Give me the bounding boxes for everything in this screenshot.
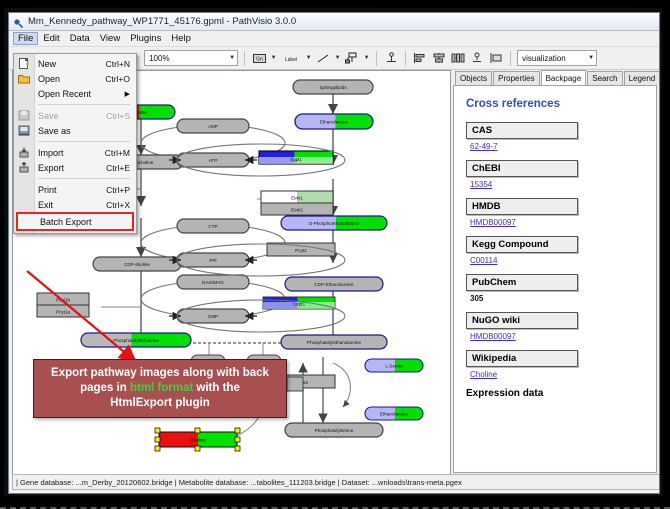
- menu-item-export[interactable]: Export Ctrl+E: [14, 160, 136, 175]
- new-file-icon: [18, 58, 30, 69]
- menu-item-exit-label: Exit: [38, 200, 106, 210]
- node-sphingolipids: Sphingolipids: [319, 85, 347, 90]
- menu-edit[interactable]: Edit: [38, 32, 64, 45]
- menu-separator-3: [38, 178, 130, 179]
- node-o-phosphoethanolamine: O-Phosphoethanolamine: [309, 221, 360, 226]
- menu-separator-1: [38, 104, 130, 105]
- status-bar: | Gene database: ...m_Derby_20120602.bri…: [12, 474, 660, 490]
- xref-source-nugo: NuGO wiki: [466, 312, 578, 329]
- label-dropdown-icon[interactable]: ▼: [305, 55, 312, 61]
- tab-properties[interactable]: Properties: [493, 71, 539, 85]
- line-icon[interactable]: [315, 50, 331, 66]
- callout-line2-a: pages in: [80, 382, 130, 394]
- menu-separator-2: [38, 141, 130, 142]
- line-dropdown-icon[interactable]: ▼: [334, 55, 341, 61]
- xref-source-chebi: ChEBI: [466, 160, 578, 177]
- xref-value-hmdb[interactable]: HMDB00097: [470, 218, 646, 227]
- callout-line2-b: with the: [193, 382, 240, 394]
- annotation-callout: Export pathway images along with back pa…: [33, 359, 287, 418]
- node-l-serine: L-Serine: [385, 364, 403, 369]
- menu-item-batch-export[interactable]: Batch Export: [16, 212, 134, 231]
- node-choline-bottom-group: Choline: [155, 428, 240, 451]
- file-menu-dropdown[interactable]: New Ctrl+N Open Ctrl+O Open Recent ▶ Sav…: [13, 53, 137, 234]
- toolbar-divider-4: [510, 51, 511, 66]
- menu-bar[interactable]: File Edit Data View Plugins Help: [9, 31, 659, 47]
- xref-value-cas[interactable]: 62-49-7: [470, 142, 646, 151]
- node-ppi: PPi: [209, 258, 216, 263]
- status-text: | Gene database: ...m_Derby_20120602.bri…: [16, 478, 462, 487]
- xref-source-wikipedia: Wikipedia: [466, 350, 578, 367]
- backpage-content[interactable]: Cross references CAS 62-49-7 ChEBI 15354…: [453, 85, 657, 473]
- pathvisio-window: Mm_Kennedy_pathway_WP1771_45176.gpml - P…: [8, 12, 660, 494]
- xref-source-hmdb: HMDB: [466, 198, 578, 215]
- callout-line1: Export pathway images along with back: [51, 367, 269, 379]
- node-phosphatidylcholines: Phosphatidylkcholines: [113, 338, 159, 343]
- tab-backpage[interactable]: Backpage: [541, 70, 587, 86]
- menu-item-open-recent[interactable]: Open Recent ▶: [14, 86, 136, 101]
- window-title: Mm_Kennedy_pathway_WP1771_45176.gpml - P…: [28, 16, 296, 27]
- tab-search[interactable]: Search: [587, 71, 622, 85]
- anchor-box: [287, 377, 303, 391]
- interaction-dropdown-icon[interactable]: ▼: [363, 55, 370, 61]
- node-phosphatidylethanolamine: Phosphatidylethanolamine: [307, 340, 361, 345]
- export-icon: [18, 162, 30, 173]
- node-ctp: CTP: [208, 224, 217, 229]
- node-cdp-ethanolamine: CDP-Ethanolamine: [314, 282, 354, 287]
- menu-item-new-label: New: [38, 59, 106, 69]
- chevron-down-icon: ▼: [229, 55, 235, 61]
- node-atp: ATP: [209, 158, 218, 163]
- gene-pcyt1b: Pcyt1b: [56, 298, 70, 303]
- gene-etnk1: Etnk1: [291, 196, 303, 201]
- pathvisio-icon: [13, 16, 24, 27]
- visualization-value: visualization: [522, 54, 566, 63]
- xref-source-kegg: Kegg Compound: [466, 236, 578, 253]
- gene-pcyt2: Pcyt2: [295, 248, 307, 253]
- zoom-value: 100%: [149, 54, 169, 63]
- menu-item-import-label: Import: [38, 148, 105, 158]
- chevron-down-icon-2: ▼: [588, 55, 594, 61]
- menu-item-print[interactable]: Print Ctrl+P: [14, 182, 136, 197]
- menu-item-open-label: Open: [38, 74, 105, 84]
- group-icon[interactable]: [488, 50, 504, 66]
- gene-product-icon[interactable]: Gn: [251, 50, 267, 66]
- svg-text:Label: Label: [285, 56, 297, 62]
- save-as-icon: [18, 125, 30, 136]
- menu-item-print-accel: Ctrl+P: [106, 185, 136, 195]
- xref-value-chebi[interactable]: 15354: [470, 180, 646, 189]
- menu-item-exit[interactable]: Exit Ctrl+X: [14, 197, 136, 212]
- tab-legend[interactable]: Legend: [624, 71, 660, 85]
- gene-product-dropdown-icon[interactable]: ▼: [270, 55, 277, 61]
- menu-item-save-as-label: Save as: [38, 126, 130, 136]
- xref-value-wikipedia[interactable]: Choline: [470, 370, 646, 379]
- menu-file[interactable]: File: [13, 32, 38, 45]
- toolbar-divider-3: [405, 51, 406, 66]
- anchor-icon[interactable]: [383, 50, 399, 66]
- xref-value-pubchem: 305: [470, 294, 646, 303]
- label-icon[interactable]: Label: [280, 50, 302, 66]
- menu-item-batch-export-label: Batch Export: [40, 217, 132, 227]
- xref-source-cas: CAS: [466, 122, 578, 139]
- node-ethanolamine-bottom: Ethanolamine: [380, 412, 409, 417]
- interaction-icon[interactable]: [344, 50, 360, 66]
- menu-item-save-label: Save: [38, 111, 106, 121]
- xref-value-kegg[interactable]: C00114: [470, 256, 646, 265]
- svg-text:Gn: Gn: [256, 56, 263, 62]
- menu-view[interactable]: View: [95, 32, 125, 45]
- cross-references-heading: Cross references: [466, 98, 646, 110]
- save-icon: [18, 110, 30, 121]
- title-bar: Mm_Kennedy_pathway_WP1771_45176.gpml - P…: [9, 13, 659, 31]
- menu-item-export-accel: Ctrl+E: [106, 163, 136, 173]
- node-dagmag: DAG/MAG: [202, 280, 224, 285]
- menu-plugins[interactable]: Plugins: [125, 32, 166, 45]
- menu-item-export-label: Export: [38, 163, 106, 173]
- menu-item-open[interactable]: Open Ctrl+O: [14, 71, 136, 86]
- menu-help[interactable]: Help: [166, 32, 196, 45]
- gene-etnk2: Etnk2: [291, 208, 303, 213]
- callout-text: Export pathway images along with back pa…: [45, 366, 275, 411]
- expression-data-heading: Expression data: [466, 388, 646, 399]
- menu-item-import-accel: Ctrl+M: [105, 148, 136, 158]
- xref-value-nugo[interactable]: HMDB00097: [470, 332, 646, 341]
- menu-item-exit-accel: Ctrl+X: [106, 200, 136, 210]
- menu-item-new-accel: Ctrl+N: [106, 59, 136, 69]
- menu-item-open-accel: Ctrl+O: [105, 74, 136, 84]
- node-phosphatidylserine: Phosphatidylserine: [315, 428, 354, 433]
- menu-item-save: Save Ctrl+S: [14, 108, 136, 123]
- node-cmp: CMP: [208, 314, 218, 319]
- callout-highlight: html format: [130, 382, 193, 394]
- menu-item-import[interactable]: Import Ctrl+M: [14, 145, 136, 160]
- align-center-icon[interactable]: [431, 50, 447, 66]
- visualization-combobox[interactable]: visualization ▼: [517, 50, 597, 66]
- xref-source-pubchem: PubChem: [466, 274, 578, 291]
- tab-objects[interactable]: Objects: [455, 71, 492, 85]
- side-panel: Objects Properties Backpage Search Legen…: [453, 70, 657, 474]
- node-choline-bottom: Choline: [190, 438, 206, 443]
- zoom-combobox[interactable]: 100% ▼: [144, 50, 238, 66]
- screenshot-frame: Mm_Kennedy_pathway_WP1771_45176.gpml - P…: [0, 0, 670, 509]
- node-cdp-choline: CDP-sholine: [124, 262, 150, 267]
- node-adp: ADP: [208, 124, 217, 129]
- menu-item-save-as[interactable]: Save as: [14, 123, 136, 138]
- toolbar-divider-2: [376, 51, 377, 66]
- submenu-arrow-icon: ▶: [125, 90, 136, 98]
- side-panel-tabs[interactable]: Objects Properties Backpage Search Legen…: [453, 70, 657, 85]
- gene-pcyt1a: Pcyt1a: [56, 310, 70, 315]
- callout-line3: HtmlExport plugin: [110, 397, 210, 409]
- node-ethanolamine-top: Ethanolamine: [320, 120, 349, 125]
- menu-item-new[interactable]: New Ctrl+N: [14, 56, 136, 71]
- align-left-icon[interactable]: [412, 50, 428, 66]
- distribute-icon[interactable]: [450, 50, 466, 66]
- menu-item-save-accel: Ctrl+S: [106, 111, 136, 121]
- menu-item-open-recent-label: Open Recent: [38, 89, 125, 99]
- toolbar-divider: [244, 51, 245, 66]
- menu-item-print-label: Print: [38, 185, 106, 195]
- gene-sgpl1: Sgpl1: [290, 157, 302, 162]
- stack-icon[interactable]: [469, 50, 485, 66]
- folder-open-icon: [18, 73, 30, 84]
- import-icon: [18, 147, 30, 158]
- menu-data[interactable]: Data: [65, 32, 95, 45]
